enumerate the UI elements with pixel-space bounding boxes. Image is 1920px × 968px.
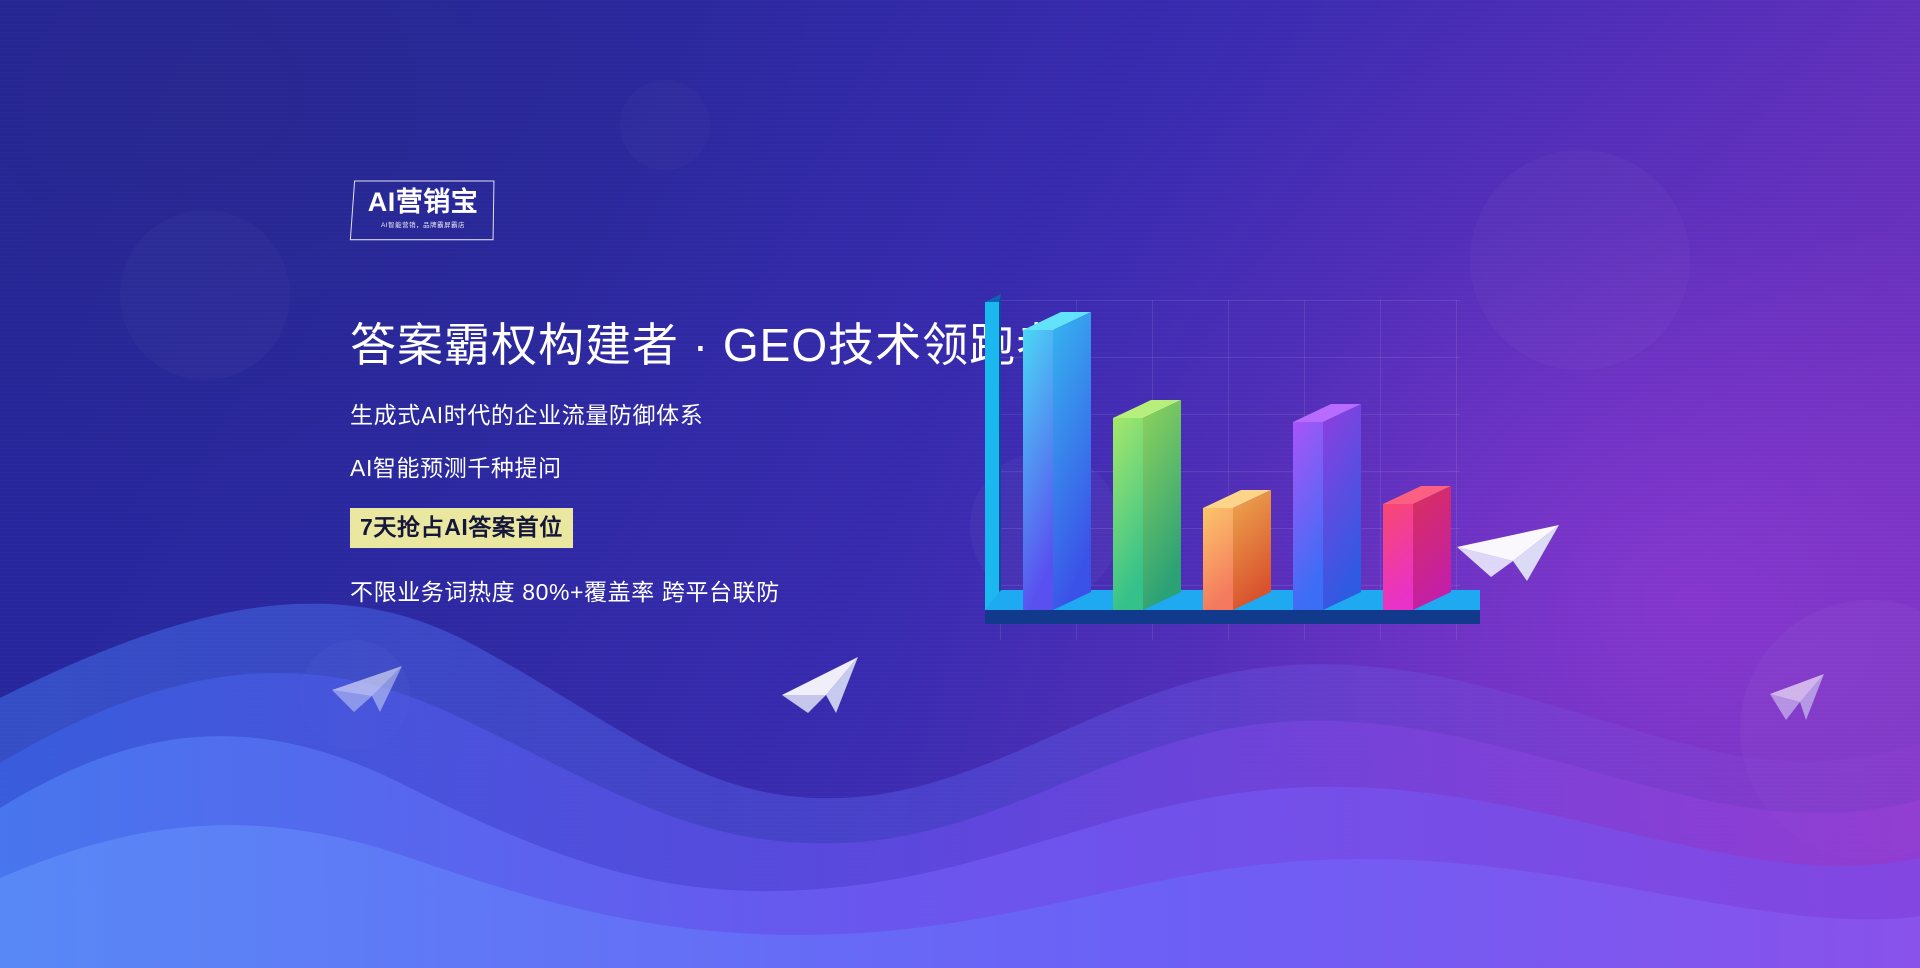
logo-tagline: AI智能营销，品牌霸屏霸店: [358, 222, 489, 228]
subtitle-line-1: 生成式AI时代的企业流量防御体系: [350, 404, 1070, 427]
background-circle: [620, 80, 710, 170]
chart-bar: [1203, 490, 1271, 610]
wave-layer-4: [0, 825, 1920, 968]
wave-layer-3: [0, 736, 1920, 968]
page-title: 答案霸权构建者 · GEO技术领跑者: [350, 320, 1070, 371]
highlight-badge: 7天抢占AI答案首位: [350, 508, 573, 548]
background-circle: [1740, 600, 1920, 860]
hero-copy: 答案霸权构建者 · GEO技术领跑者 生成式AI时代的企业流量防御体系 AI智能…: [350, 320, 1070, 604]
logo-text: AI营销宝: [352, 189, 494, 216]
paper-plane-icon: [780, 655, 866, 721]
chart-bar: [1023, 312, 1091, 610]
bar-chart-3d-icon: [975, 290, 1495, 670]
wave-layer-2: [0, 673, 1920, 968]
chart-bar: [1113, 400, 1181, 610]
hero-banner: AI营销宝 AI智能营销，品牌霸屏霸店 答案霸权构建者 · GEO技术领跑者 生…: [0, 0, 1920, 968]
paper-plane-icon: [1768, 672, 1830, 728]
background-circle: [120, 210, 290, 380]
subtitle-line-4: 不限业务词热度 80%+覆盖率 跨平台联防: [350, 581, 1070, 604]
brand-logo[interactable]: AI营销宝 AI智能营销，品牌霸屏霸店: [352, 180, 494, 240]
background-circle: [300, 640, 410, 750]
chart-bar: [1383, 486, 1451, 610]
wave-decoration: [0, 548, 1920, 968]
highlight-row: 7天抢占AI答案首位: [350, 508, 1070, 548]
chart-y-axis: [985, 294, 1001, 618]
background-circle: [1470, 150, 1690, 370]
chart-bar: [1293, 404, 1361, 610]
wave-layer-1: [0, 604, 1920, 968]
paper-plane-icon: [330, 660, 408, 720]
subtitle-line-2: AI智能预测千种提问: [350, 457, 1070, 480]
